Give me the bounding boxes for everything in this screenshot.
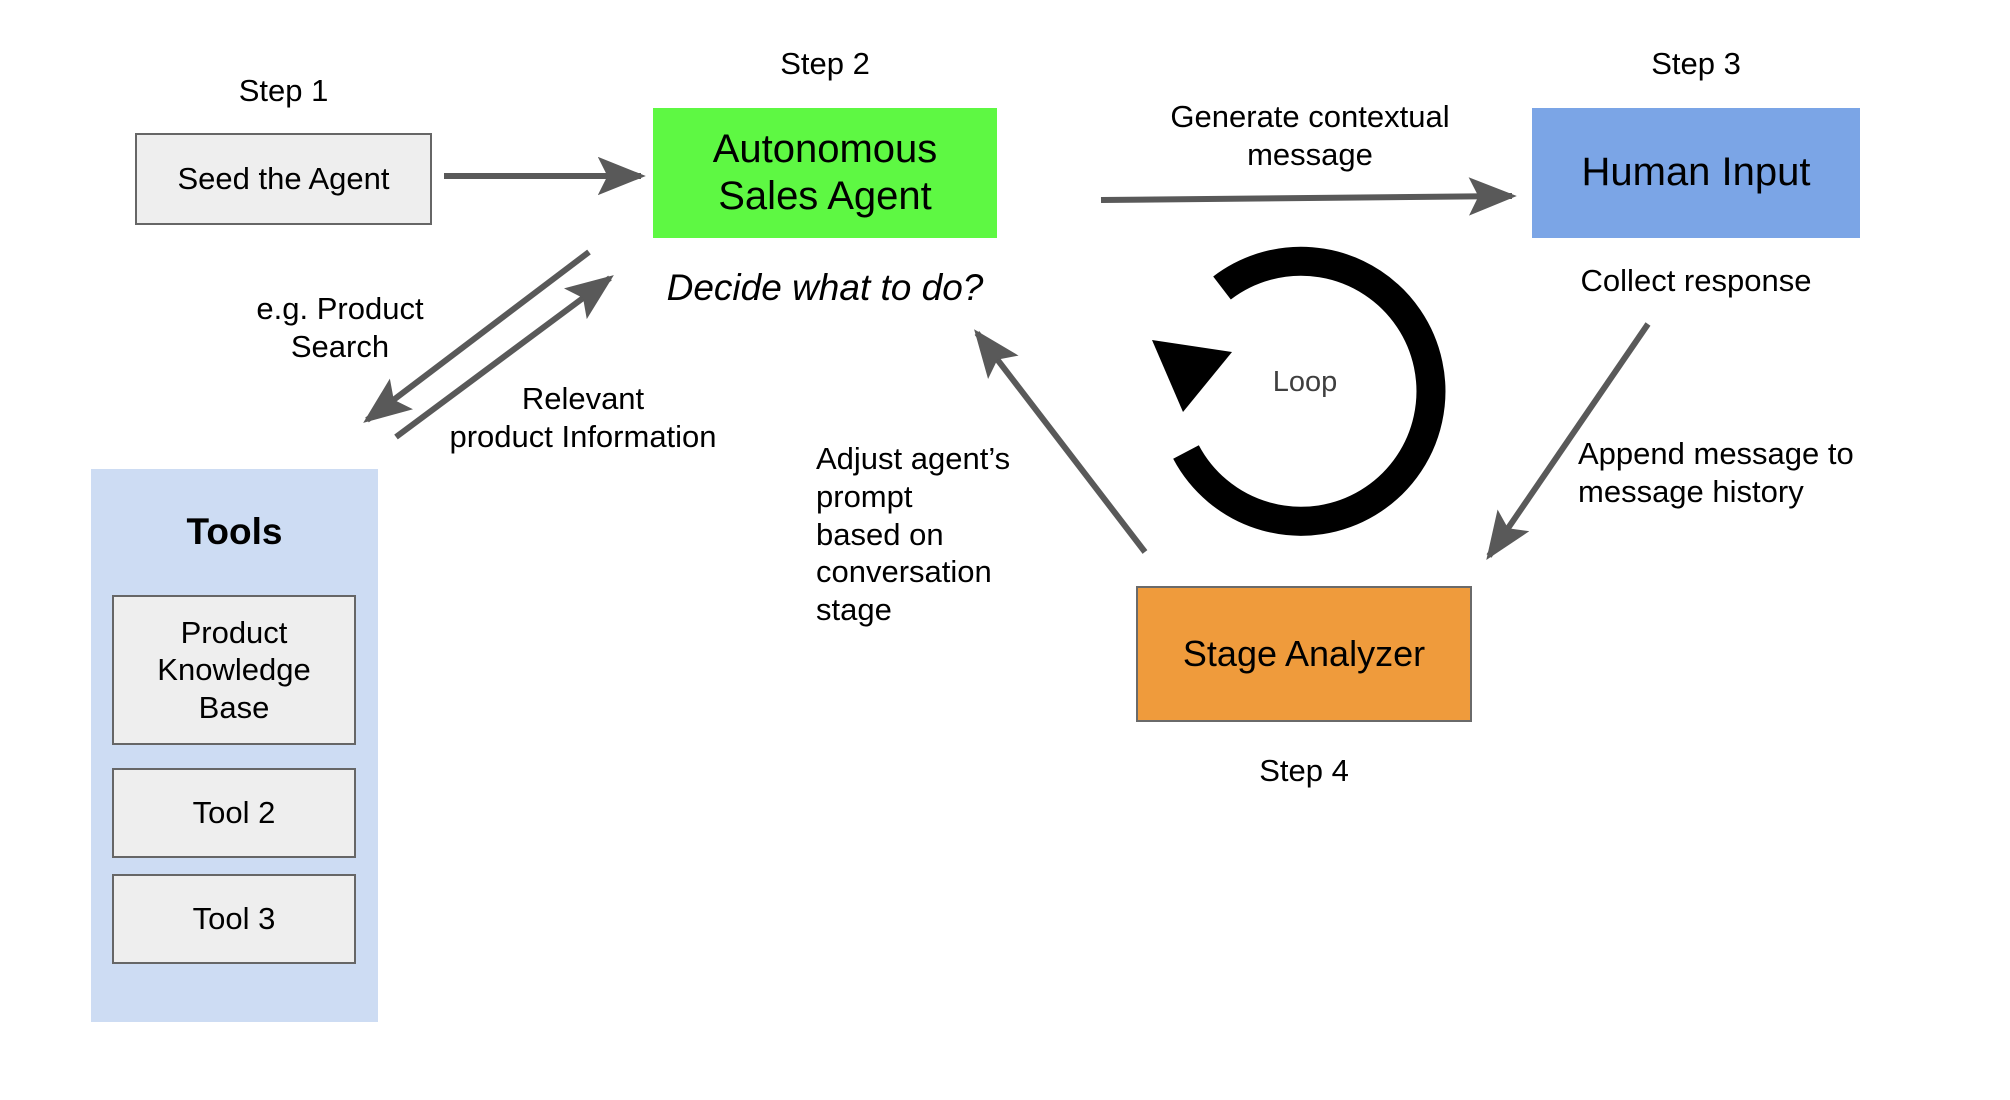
tool-item-tool-3[interactable]: Tool 3 (112, 874, 356, 964)
node-seed-the-agent[interactable]: Seed the Agent (135, 133, 432, 225)
node-stage-label: Stage Analyzer (1183, 633, 1425, 675)
edge-label-adjust-agent-prompt: Adjust agent’s prompt based on conversat… (816, 440, 1046, 629)
arrow-agent-to-human (1101, 196, 1512, 200)
tool-item-label: Tool 2 (193, 794, 276, 831)
agent-subtitle: Decide what to do? (633, 265, 1017, 310)
human-subtitle: Collect response (1532, 262, 1860, 300)
node-agent-label: Autonomous Sales Agent (713, 126, 938, 220)
tool-item-product-knowledge-base[interactable]: Product Knowledge Base (112, 595, 356, 745)
step-4-label: Step 4 (1136, 752, 1472, 790)
tool-item-tool-2[interactable]: Tool 2 (112, 768, 356, 858)
tools-panel: Tools Product Knowledge Base Tool 2 Tool… (91, 469, 378, 1022)
edge-label-append-message-to-history: Append message to message history (1578, 435, 1998, 511)
node-seed-label: Seed the Agent (177, 161, 389, 198)
tool-item-label: Tool 3 (193, 900, 276, 937)
step-1-label: Step 1 (135, 72, 432, 110)
node-human-input[interactable]: Human Input (1532, 108, 1860, 238)
loop-label: Loop (1230, 365, 1380, 400)
step-3-label: Step 3 (1532, 45, 1860, 83)
node-human-label: Human Input (1581, 149, 1810, 196)
step-2-label: Step 2 (653, 45, 997, 83)
node-stage-analyzer[interactable]: Stage Analyzer (1136, 586, 1472, 722)
edge-label-product-search: e.g. Product Search (205, 290, 475, 366)
edge-label-relevant-product-information: Relevant product Information (418, 380, 748, 456)
diagram-canvas: Step 1 Seed the Agent Step 2 Autonomous … (0, 0, 2010, 1100)
tool-item-label: Product Knowledge Base (157, 614, 310, 726)
edge-label-generate-contextual-message: Generate contextual message (1090, 98, 1530, 174)
tools-panel-title: Tools (91, 511, 378, 553)
node-autonomous-sales-agent[interactable]: Autonomous Sales Agent (653, 108, 997, 238)
